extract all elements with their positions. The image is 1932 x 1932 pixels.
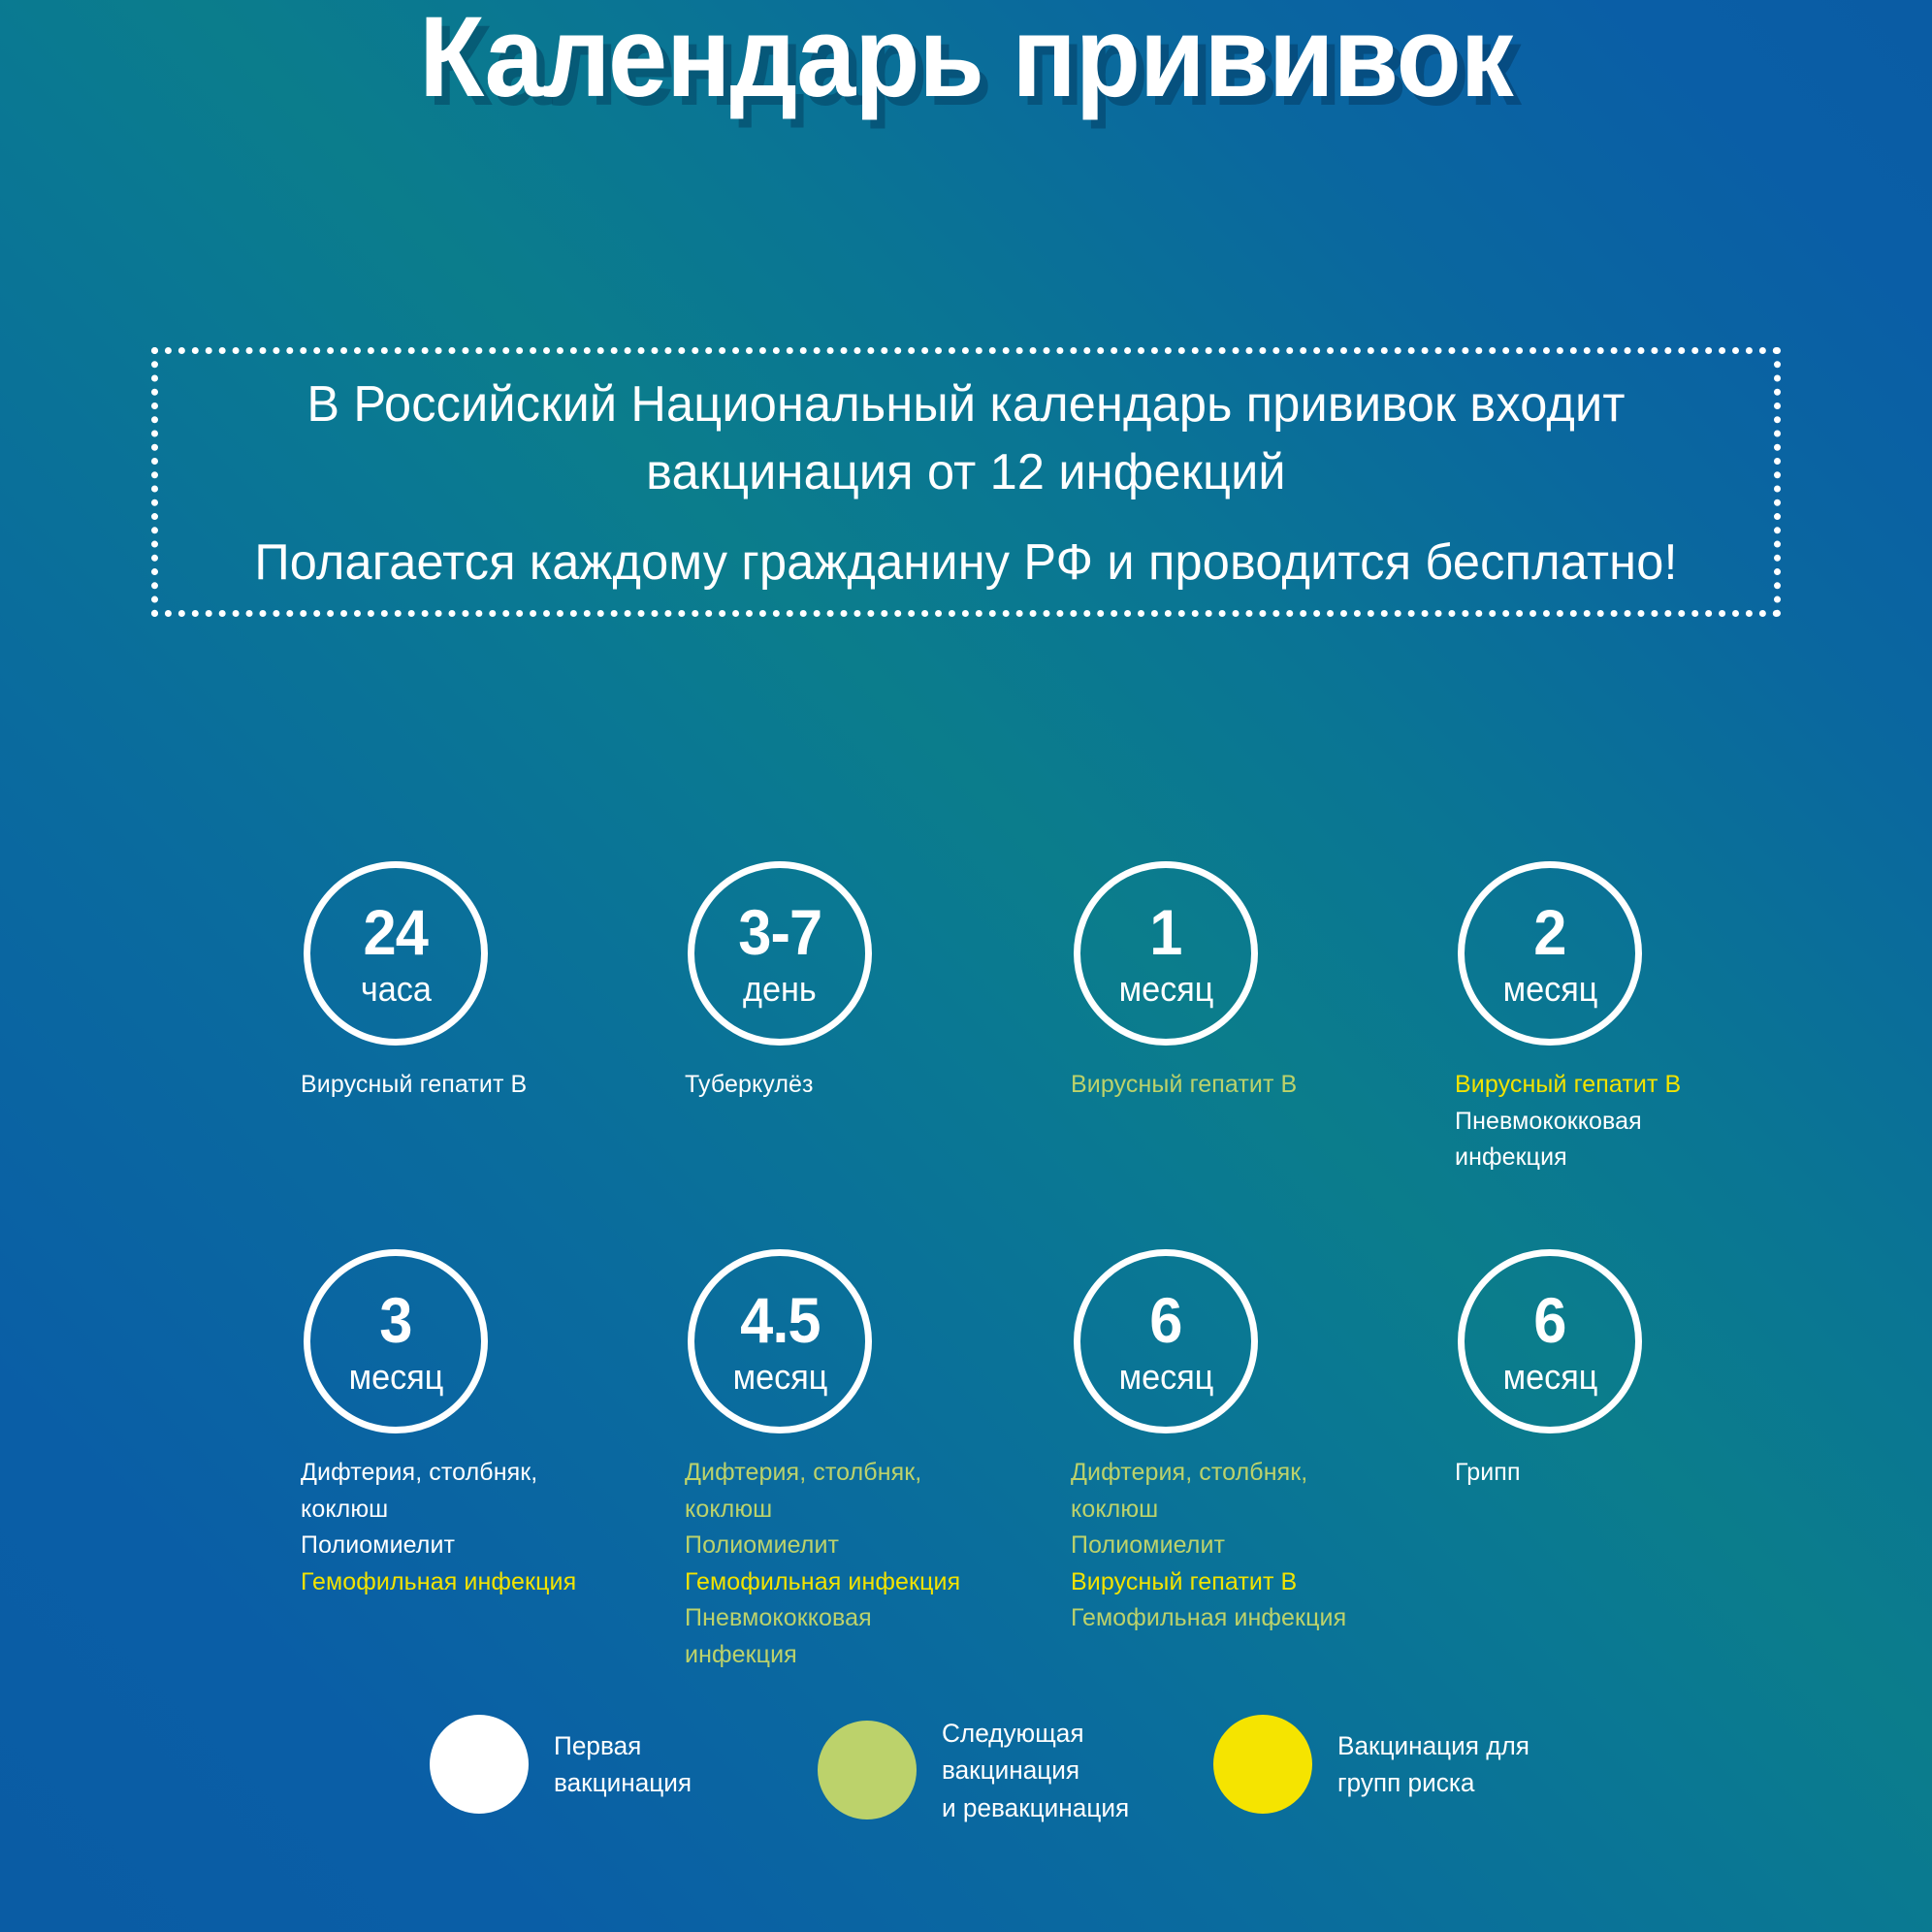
- schedule-cell: 24часаВирусный гепатит В: [287, 861, 675, 1104]
- age-unit: месяц: [1502, 970, 1597, 1009]
- age-number: 1: [1149, 903, 1181, 962]
- schedule-cell: 6месяцДифтерия, столбняк, коклюшПолиомие…: [1057, 1249, 1445, 1637]
- schedule-row: 3месяцДифтерия, столбняк, коклюшПолиомие…: [0, 1249, 1932, 1666]
- legend-item: Вакцинация для групп риска: [1213, 1715, 1535, 1814]
- legend: Первая вакцинацияСледующая вакцинация и …: [0, 1715, 1932, 1870]
- legend-label: Следующая вакцинация и ревакцинация: [942, 1715, 1129, 1826]
- age-unit: часа: [361, 970, 432, 1009]
- age-unit: месяц: [1118, 970, 1213, 1009]
- schedule-cell: 1месяцВирусный гепатит В: [1057, 861, 1445, 1104]
- age-circle: 2месяц: [1458, 861, 1642, 1046]
- vaccine-label: Гемофильная инфекция: [301, 1564, 669, 1601]
- age-unit: месяц: [1118, 1358, 1213, 1397]
- age-unit: день: [743, 970, 817, 1009]
- intro-line-1: В Российский Национальный календарь прив…: [207, 371, 1725, 506]
- schedule-cell: 2месяцВирусный гепатит ВПневмококковая и…: [1441, 861, 1829, 1176]
- age-number: 2: [1533, 903, 1565, 962]
- age-number: 4.5: [740, 1291, 821, 1350]
- vaccine-label: Дифтерия, столбняк, коклюш: [685, 1455, 1053, 1528]
- age-circle: 24часа: [304, 861, 488, 1046]
- age-unit: месяц: [1502, 1358, 1597, 1397]
- vaccine-label: Дифтерия, столбняк, коклюш: [1071, 1455, 1439, 1528]
- age-number: 24: [364, 903, 428, 962]
- age-circle: 3месяц: [304, 1249, 488, 1433]
- vaccine-label: Полиомиелит: [301, 1528, 669, 1564]
- age-number: 6: [1149, 1291, 1181, 1350]
- legend-label: Вакцинация для групп риска: [1337, 1727, 1529, 1802]
- vaccine-label-list: Дифтерия, столбняк, коклюшПолиомиелитГем…: [671, 1455, 1053, 1673]
- age-circle: 4.5месяц: [688, 1249, 872, 1433]
- vaccine-label-list: Дифтерия, столбняк, коклюшПолиомиелитГем…: [287, 1455, 669, 1600]
- vaccine-label: Полиомиелит: [1071, 1528, 1439, 1564]
- legend-swatch-yellow-icon: [1213, 1715, 1312, 1814]
- schedule-grid: 24часаВирусный гепатит В3-7деньТуберкулё…: [0, 861, 1932, 1666]
- page-title: Календарь прививок: [68, 0, 1865, 114]
- age-number: 3: [379, 1291, 411, 1350]
- vaccine-label: Пневмококковая инфекция: [685, 1600, 1053, 1673]
- vaccine-label: Вирусный гепатит В: [1071, 1564, 1439, 1601]
- schedule-cell: 3месяцДифтерия, столбняк, коклюшПолиомие…: [287, 1249, 675, 1600]
- vaccine-label: Вирусный гепатит В: [1455, 1067, 1823, 1104]
- age-number: 3-7: [738, 903, 821, 962]
- intro-callout-box: В Российский Национальный календарь прив…: [151, 347, 1781, 617]
- vaccination-calendar-poster: Календарь прививок В Российский Национал…: [0, 0, 1932, 1932]
- vaccine-label: Вирусный гепатит В: [301, 1067, 669, 1104]
- vaccine-label: Вирусный гепатит В: [1071, 1067, 1439, 1104]
- age-circle: 6месяц: [1074, 1249, 1258, 1433]
- age-circle: 6месяц: [1458, 1249, 1642, 1433]
- vaccine-label: Грипп: [1455, 1455, 1823, 1492]
- legend-label: Первая вакцинация: [554, 1727, 692, 1802]
- schedule-cell: 6месяцГрипп: [1441, 1249, 1829, 1492]
- age-number: 6: [1533, 1291, 1565, 1350]
- vaccine-label-list: Вирусный гепатит ВПневмококковая инфекци…: [1441, 1067, 1823, 1176]
- schedule-row: 24часаВирусный гепатит В3-7деньТуберкулё…: [0, 861, 1932, 1249]
- vaccine-label-list: Грипп: [1441, 1455, 1823, 1492]
- age-unit: месяц: [348, 1358, 443, 1397]
- vaccine-label: Пневмококковая инфекция: [1455, 1104, 1823, 1176]
- legend-swatch-white-icon: [430, 1715, 529, 1814]
- legend-swatch-green-icon: [818, 1721, 917, 1819]
- schedule-cell: 3-7деньТуберкулёз: [671, 861, 1059, 1104]
- vaccine-label: Полиомиелит: [685, 1528, 1053, 1564]
- vaccine-label-list: Вирусный гепатит В: [287, 1067, 669, 1104]
- vaccine-label: Туберкулёз: [685, 1067, 1053, 1104]
- legend-item: Первая вакцинация: [430, 1715, 696, 1814]
- age-circle: 1месяц: [1074, 861, 1258, 1046]
- vaccine-label: Дифтерия, столбняк, коклюш: [301, 1455, 669, 1528]
- vaccine-label: Гемофильная инфекция: [1071, 1600, 1439, 1637]
- vaccine-label: Гемофильная инфекция: [685, 1564, 1053, 1601]
- vaccine-label-list: Дифтерия, столбняк, коклюшПолиомиелитВир…: [1057, 1455, 1439, 1637]
- legend-item: Следующая вакцинация и ревакцинация: [818, 1715, 1135, 1826]
- vaccine-label-list: Туберкулёз: [671, 1067, 1053, 1104]
- age-unit: месяц: [732, 1358, 827, 1397]
- vaccine-label-list: Вирусный гепатит В: [1057, 1067, 1439, 1104]
- schedule-cell: 4.5месяцДифтерия, столбняк, коклюшПолиом…: [671, 1249, 1059, 1673]
- age-circle: 3-7день: [688, 861, 872, 1046]
- intro-line-2: Полагается каждому гражданину РФ и прово…: [207, 530, 1725, 597]
